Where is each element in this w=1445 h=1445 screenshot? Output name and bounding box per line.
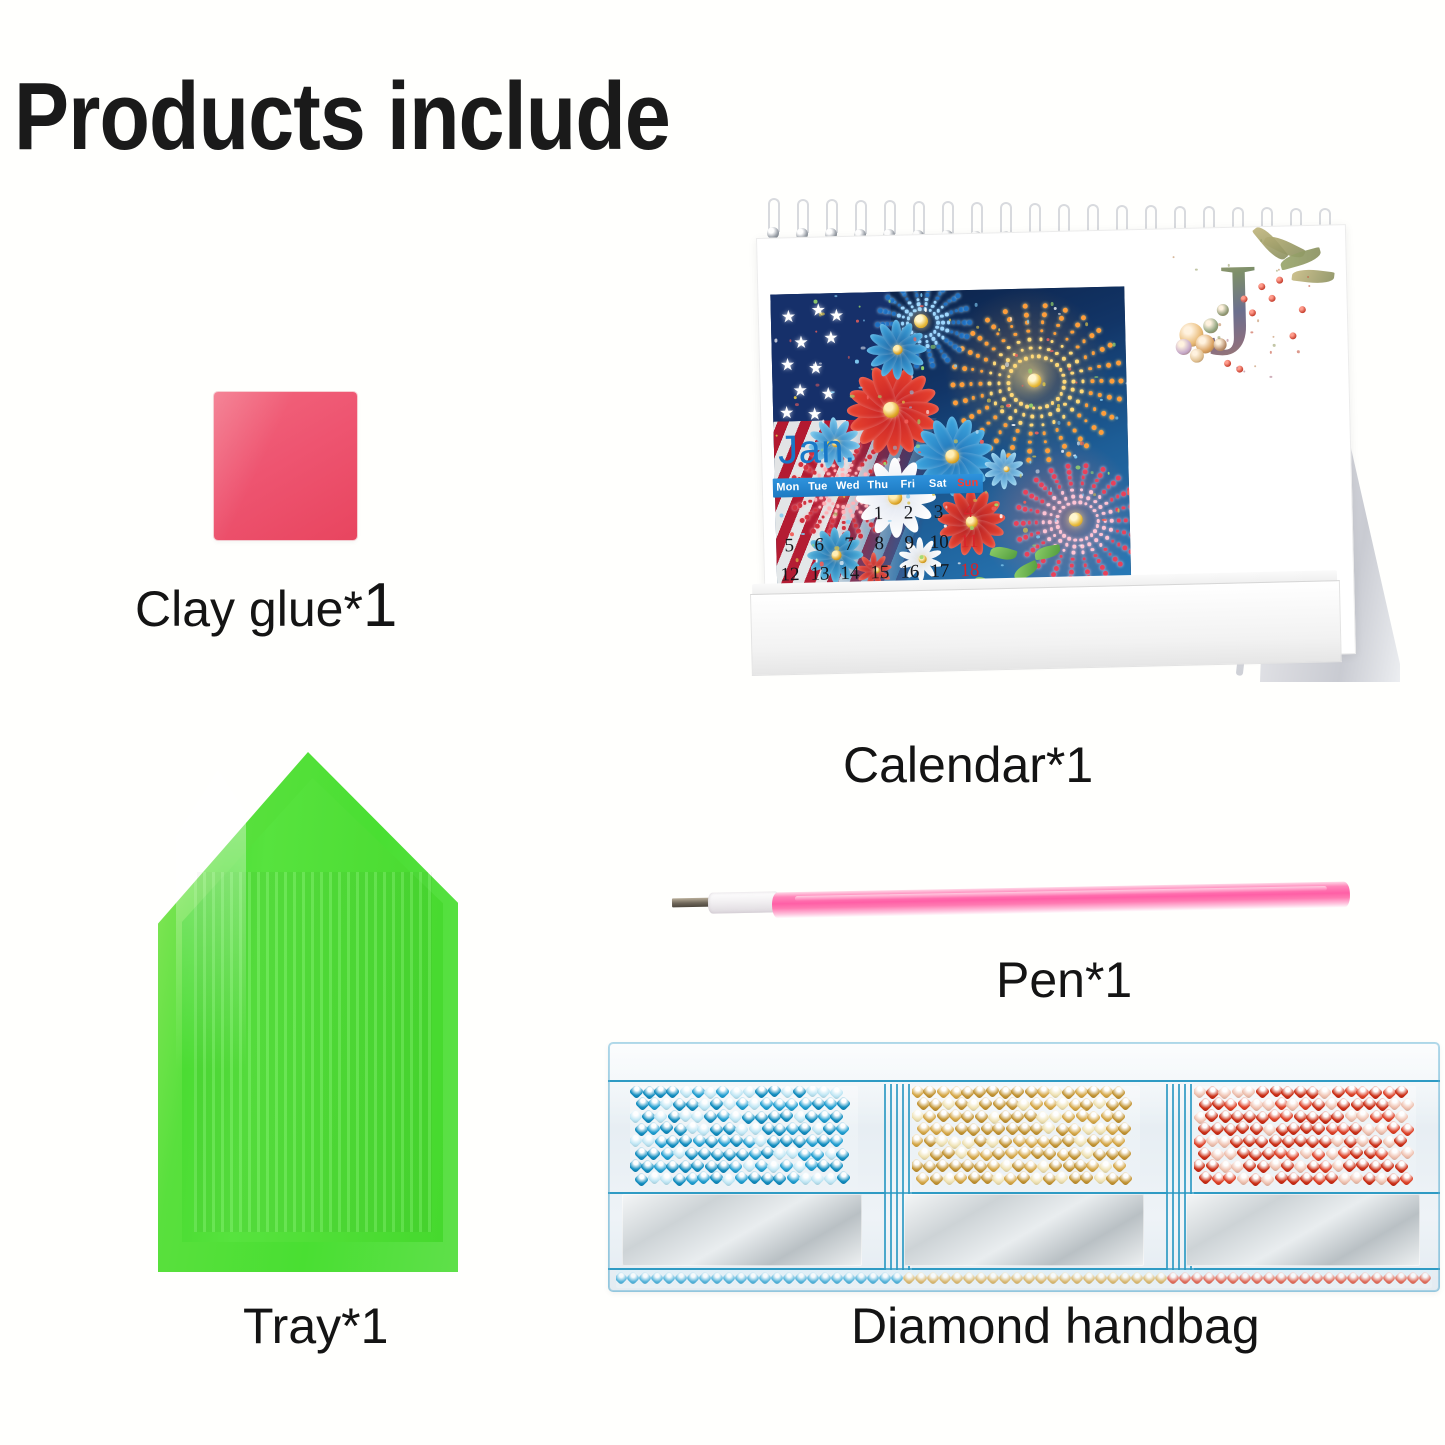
firework-dot (968, 350, 973, 355)
handbag-seam-1 (608, 1080, 1440, 1082)
artwork-bead (1074, 456, 1077, 459)
firework-dot (1034, 520, 1038, 524)
caption-clay-glue-text: Clay glue* (135, 581, 363, 637)
firework-dot (1103, 548, 1107, 552)
firework-dot (1102, 490, 1106, 494)
artwork-bead (1054, 307, 1057, 310)
artwork-bead (1029, 404, 1033, 408)
calendar-day-2: 2 (893, 499, 924, 527)
tray-highlight (176, 770, 246, 1070)
calendar-day-10: 10 (924, 528, 955, 556)
firework-dot (1065, 543, 1069, 547)
firework-dot (1116, 360, 1121, 365)
firework-dot (1053, 496, 1057, 500)
handbag-foil-packet-1 (622, 1194, 862, 1266)
artwork-bead (774, 339, 777, 343)
firework-dot (1083, 355, 1087, 359)
artwork-bead (992, 506, 996, 510)
firework-dot (1010, 393, 1014, 397)
firework-dot (1111, 480, 1116, 485)
firework-dot (1040, 414, 1044, 418)
monogram-splatter (1226, 339, 1229, 342)
artwork-bead (954, 364, 957, 368)
handbag-body (608, 1042, 1440, 1292)
firework-dot (1031, 415, 1035, 419)
monogram-berry (1276, 277, 1283, 284)
firework-dot (1096, 328, 1101, 333)
firework-dot (1068, 476, 1072, 480)
firework-dot (1072, 551, 1076, 555)
firework-dot (1023, 506, 1028, 511)
artwork-bead (1075, 381, 1077, 383)
firework-dot (993, 416, 997, 420)
firework-dot (937, 333, 941, 337)
firework-dot (936, 296, 940, 300)
firework-dot (1048, 491, 1052, 495)
firework-dot (892, 312, 896, 316)
firework-dot (901, 322, 905, 326)
firework-dot (1071, 494, 1075, 498)
artwork-bead (850, 395, 854, 398)
firework-dot (1095, 479, 1099, 483)
firework-dot (1118, 378, 1123, 383)
firework-dot (933, 330, 937, 334)
firework-dot (1063, 402, 1067, 406)
firework-dot (1083, 463, 1088, 468)
firework-dot (1099, 505, 1103, 509)
monogram-splatter (1273, 344, 1276, 347)
flag-star: ★ (829, 307, 845, 324)
firework-dot (993, 361, 997, 365)
firework-dot (945, 312, 949, 316)
artwork-bead (1127, 491, 1131, 496)
firework-dot (935, 316, 939, 320)
firework-dot (1056, 408, 1060, 412)
firework-dot (1016, 505, 1021, 510)
firework-dot (1131, 518, 1132, 523)
artwork-bead (976, 326, 979, 329)
flag-star: ★ (820, 385, 836, 402)
firework-dot (1047, 537, 1051, 541)
firework-dot (1075, 359, 1079, 363)
firework-dot (1070, 564, 1074, 568)
artwork-bead (878, 395, 882, 398)
artwork-bead (1015, 354, 1018, 356)
firework-dot (1096, 519, 1100, 523)
monogram-illustration: J (1171, 236, 1322, 387)
firework-dot (1093, 407, 1097, 411)
monogram-splatter (1218, 323, 1221, 326)
rhinestone (671, 1171, 687, 1187)
artwork-bead (1005, 362, 1009, 366)
monogram-splatter (1218, 336, 1221, 339)
firework-dot (1062, 380, 1066, 384)
firework-dot (1004, 424, 1008, 428)
firework-dot (1040, 500, 1044, 504)
firework-dot (967, 320, 972, 325)
calendar-day-4: 4 (953, 498, 984, 526)
firework-dot (1029, 432, 1033, 436)
firework-dot (997, 381, 1001, 385)
firework-dot (1002, 397, 1006, 401)
flower-center (945, 449, 959, 463)
handbag-pouch-2 (912, 1086, 1140, 1190)
firework-dot (857, 467, 861, 471)
firework-dot (1042, 511, 1046, 515)
firework-dot (928, 353, 932, 357)
calendar-day-11: 11 (954, 527, 985, 555)
firework-dot (918, 307, 922, 311)
caption-calendar: Calendar*1 (843, 736, 1093, 794)
firework-dot (1093, 529, 1097, 533)
firework-dot (1063, 534, 1067, 538)
firework-dot (1099, 533, 1103, 537)
calendar-weekday-wed: Wed (833, 477, 863, 497)
firework-dot (962, 366, 967, 371)
artwork-bead (1000, 514, 1003, 518)
monogram-splatter (1195, 268, 1198, 271)
caption-clay-glue: Clay glue*1 (135, 570, 397, 641)
artwork-bead (924, 308, 926, 312)
firework-dot (897, 314, 901, 318)
handbag-foil-packet-3 (1186, 1194, 1420, 1266)
firework-dot (930, 362, 935, 367)
firework-dot (1021, 521, 1026, 526)
artwork-bead (1001, 564, 1004, 566)
firework-dot (1056, 397, 1060, 401)
caption-tray: Tray*1 (243, 1297, 388, 1355)
firework-dot (1122, 531, 1126, 535)
rhinestone-fill (1194, 1086, 1416, 1190)
artwork-bead (819, 362, 822, 364)
firework-dot (1116, 495, 1120, 499)
firework-dot (1014, 521, 1019, 526)
flag-star: ★ (780, 356, 796, 373)
firework-dot (1090, 533, 1094, 537)
firework-dot (1024, 357, 1028, 361)
monogram-berry (1258, 283, 1265, 290)
calendar-day-9: 9 (894, 529, 925, 557)
firework-dot (1100, 379, 1104, 383)
firework-dot (978, 382, 982, 386)
firework-dot (1014, 398, 1018, 402)
firework-dot (1085, 537, 1089, 541)
firework-dot (1092, 484, 1096, 488)
firework-dot (985, 342, 989, 346)
firework-dot (926, 289, 930, 293)
firework-dot (1094, 538, 1098, 542)
firework-dot (1079, 538, 1083, 542)
monogram-leaf (1291, 267, 1334, 285)
artwork-bead (1079, 441, 1084, 445)
firework-dot (1098, 393, 1102, 397)
firework-dot (945, 329, 949, 333)
firework-dot (940, 327, 944, 331)
firework-dot (1109, 510, 1113, 514)
firework-dot (1058, 539, 1062, 543)
monogram-splatter (1272, 335, 1275, 338)
firework-dot (985, 405, 989, 409)
artwork-bead (830, 391, 834, 393)
firework-dot (1024, 551, 1029, 556)
firework-dot (940, 314, 944, 318)
firework-dot (1001, 365, 1005, 369)
artwork-bead (893, 445, 897, 450)
monogram-berry (1289, 332, 1296, 339)
firework-dot (1085, 403, 1089, 407)
firework-dot (964, 306, 969, 311)
firework-dot (1117, 542, 1121, 546)
firework-dot (941, 321, 945, 325)
firework-dot (1013, 364, 1017, 368)
firework-dot (1097, 559, 1101, 563)
artwork-bead (1036, 469, 1040, 473)
firework-dot (1059, 436, 1063, 440)
firework-dot (1073, 429, 1077, 433)
artwork-bead (1076, 465, 1081, 469)
firework-dot (1122, 506, 1126, 510)
firework-dot (1039, 338, 1043, 342)
caption-diamond-handbag: Diamond handbag (851, 1297, 1260, 1355)
monogram-berry (1268, 295, 1275, 302)
firework-dot (1094, 554, 1098, 558)
firework-dot (937, 345, 941, 349)
artwork-bead (1029, 460, 1031, 464)
artwork-bead (910, 391, 914, 395)
firework-dot (1128, 504, 1131, 509)
firework-dot (999, 353, 1003, 357)
artwork-bead (931, 345, 935, 349)
calendar-weekday-sun: Sun (953, 474, 983, 494)
artwork-bead (916, 444, 920, 448)
firework-dot (1070, 408, 1074, 412)
firework-dot (1098, 473, 1103, 478)
pen-collar (708, 891, 780, 913)
artwork-bead (1057, 404, 1060, 409)
artwork-bead (871, 368, 873, 370)
firework-dot (1017, 537, 1022, 542)
firework-dot (877, 308, 882, 313)
monogram-splatter (1257, 320, 1260, 323)
firework-dot (1098, 495, 1102, 499)
firework-dot (1090, 379, 1094, 383)
artwork-bead (1117, 508, 1119, 512)
firework-dot (1105, 536, 1109, 540)
artwork-bead (1034, 431, 1038, 434)
artwork-bead (986, 399, 990, 403)
calendar-weekday-tue: Tue (803, 477, 833, 497)
firework-dot (1028, 338, 1032, 342)
artwork-bead (1032, 455, 1036, 457)
calendar-day-7: 7 (834, 530, 865, 558)
calendar-image: ★★★★★★★★★★★ J Jan. MonTueWedThuFriSatSun… (700, 180, 1380, 740)
firework-dot (1063, 307, 1068, 312)
artwork-bead (835, 295, 837, 297)
firework-dot (1068, 396, 1072, 400)
monogram-splatter (1297, 351, 1300, 354)
firework-dot (1019, 402, 1023, 406)
rhinestone (1418, 1271, 1432, 1285)
firework-dot (909, 312, 913, 316)
firework-dot (936, 321, 940, 325)
firework-dot (1117, 518, 1121, 522)
firework-dot (971, 396, 975, 400)
firework-dot (1035, 496, 1039, 500)
firework-dot (1043, 529, 1047, 533)
monogram-flower (1190, 348, 1204, 362)
firework-dot (950, 382, 955, 387)
firework-dot (1070, 330, 1074, 334)
monogram-splatter (1269, 376, 1272, 379)
firework-dot (945, 357, 950, 362)
rhinestone (1400, 1145, 1416, 1161)
firework-dot (1062, 415, 1066, 419)
flag-star: ★ (779, 404, 795, 421)
caption-pen: Pen*1 (996, 951, 1132, 1009)
artwork-bead (1050, 488, 1052, 492)
firework-dot (1129, 549, 1132, 554)
firework-dot (926, 293, 930, 297)
firework-dot (1084, 443, 1089, 448)
infographic-canvas: Products include Clay glue*1 Tray*1 ★★★★… (0, 0, 1445, 1445)
calendar-weekday-fri: Fri (893, 475, 923, 495)
firework-dot (1059, 368, 1063, 372)
firework-dot (984, 358, 988, 362)
handbag-bottom-sliver (616, 1270, 1432, 1288)
artwork-bead (795, 403, 799, 406)
firework-dot (1039, 482, 1044, 487)
monogram-splatter (1308, 285, 1311, 288)
firework-dot (1077, 414, 1081, 418)
firework-dot (1024, 312, 1029, 317)
artwork-bead (883, 462, 886, 465)
firework-dot (1068, 537, 1072, 541)
firework-dot (1019, 421, 1023, 425)
firework-dot (1048, 412, 1052, 416)
firework-dot (1029, 493, 1034, 498)
firework-dot (1041, 520, 1045, 524)
firework-dot (1078, 501, 1082, 505)
artwork-bead (815, 330, 818, 332)
firework-dot (976, 354, 980, 358)
firework-dot (1056, 525, 1060, 529)
artwork-bead (919, 305, 923, 307)
rhinestone (836, 1170, 852, 1186)
firework-dot (1049, 527, 1053, 531)
firework-dot (1076, 399, 1080, 403)
firework-dot (1087, 496, 1091, 500)
firework-dot (1124, 518, 1128, 522)
firework-dot (1052, 474, 1057, 479)
firework-dot (1080, 390, 1084, 394)
rhinestone (721, 1171, 737, 1187)
page-title: Products include (14, 62, 670, 172)
firework-dot (988, 381, 992, 385)
firework-dot (1042, 431, 1046, 435)
flag-star: ★ (823, 329, 839, 346)
pen-barrel (772, 881, 1350, 918)
firework-dot (1109, 528, 1113, 532)
calendar-weekday-sat: Sat (923, 474, 953, 494)
artwork-bead (1068, 368, 1071, 371)
firework-dot (989, 392, 993, 396)
firework-dot (1061, 491, 1065, 495)
firework-dot (1037, 355, 1041, 359)
firework-dot (1091, 425, 1096, 430)
artwork-bead (1046, 338, 1049, 341)
artwork-bead (1091, 472, 1094, 474)
firework-dot (1072, 501, 1076, 505)
firework-dot (1036, 544, 1040, 548)
firework-dot (1059, 530, 1063, 534)
pen-image (672, 884, 1352, 924)
firework-dot (861, 463, 865, 467)
firework-dot (969, 414, 974, 419)
rhinestone-fill (630, 1086, 858, 1190)
rhinestone (1118, 1171, 1134, 1187)
firework-dot (1055, 363, 1059, 367)
firework-dot (1100, 467, 1105, 472)
artwork-bead (1043, 383, 1046, 386)
calendar-base-front (750, 580, 1342, 676)
firework-dot (1081, 379, 1085, 383)
handbag-foil-packet-2 (904, 1194, 1144, 1266)
firework-dot (869, 470, 873, 474)
rhinestone (1260, 1171, 1276, 1187)
firework-dot (906, 317, 910, 321)
artwork-bead (847, 356, 850, 359)
firework-dot (1046, 457, 1051, 462)
firework-dot (1028, 440, 1032, 444)
firework-dot (1000, 410, 1004, 414)
artwork-bead (888, 300, 891, 303)
artwork-bead (819, 312, 822, 316)
artwork-bead (813, 300, 817, 304)
firework-dot (970, 331, 975, 336)
artwork-bead (861, 346, 866, 349)
calendar-day-5: 5 (774, 531, 805, 559)
artwork-bead (1023, 528, 1027, 533)
firework-dot (1025, 405, 1029, 409)
firework-dot (936, 309, 940, 313)
artwork-bead (901, 400, 905, 403)
firework-dot (1076, 345, 1080, 349)
firework-dot (969, 382, 973, 386)
firework-dot (1048, 520, 1052, 524)
artwork-bead (975, 303, 978, 307)
diamond-handbag-image (608, 1042, 1440, 1292)
firework-dot (1055, 480, 1059, 484)
artwork-bead (1107, 471, 1110, 475)
handbag-pouch-3 (1194, 1086, 1416, 1190)
handbag-pouch-1 (630, 1086, 858, 1190)
firework-dot (1016, 429, 1020, 433)
firework-dot (1067, 469, 1072, 474)
firework-dot (1100, 565, 1105, 570)
artwork-bead (921, 366, 925, 369)
firework-dot (1129, 532, 1132, 537)
calendar-weekday-thu: Thu (863, 476, 893, 496)
firework-dot (1044, 356, 1048, 360)
firework-dot (908, 301, 912, 305)
firework-dot (915, 293, 919, 297)
flag-star: ★ (793, 334, 809, 351)
artwork-bead (911, 375, 913, 379)
firework-dot (1009, 445, 1014, 450)
firework-dot (1115, 475, 1120, 480)
calendar-weekday-mon: Mon (773, 478, 803, 498)
artwork-bead (1029, 369, 1033, 373)
